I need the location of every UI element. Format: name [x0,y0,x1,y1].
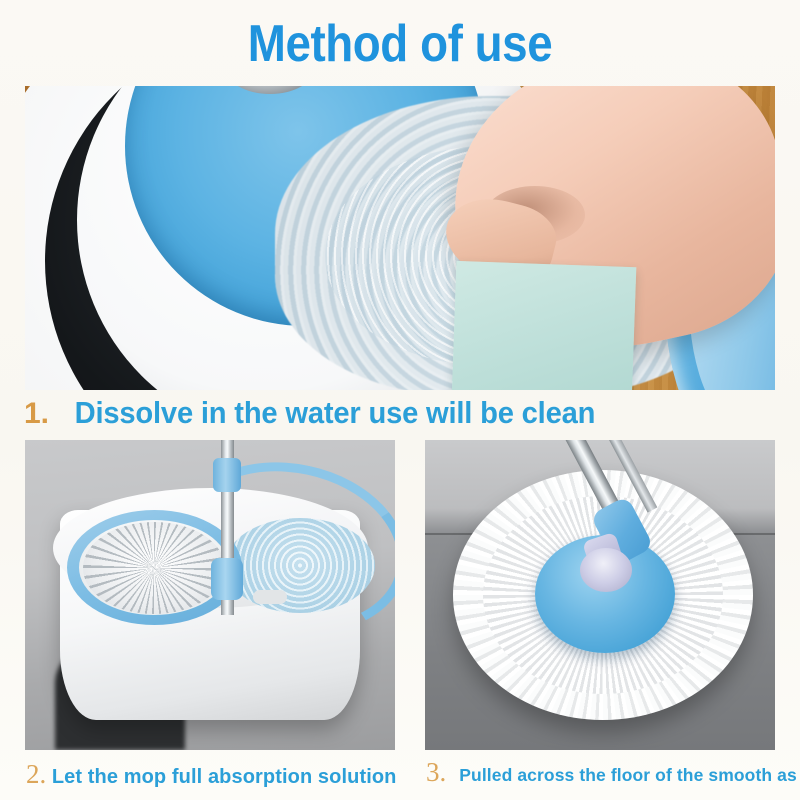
product-instruction-page: Method of use 1. Dissolve in the water u… [0,0,800,800]
step-2-caption: 2. Let the mop full absorption solution [26,762,397,789]
step-3-number: 3. [426,757,446,787]
dissolvable-cleaning-sheet [450,261,637,390]
step-2-photo [25,440,395,750]
mop-hub [580,548,632,592]
step-1-photo [25,86,775,390]
step-3-caption: 3. Pulled across the floor of the smooth… [426,760,800,787]
step-1-caption: 1. Dissolve in the water use will be cle… [24,396,612,431]
page-title: Method of use [48,16,752,72]
step-3-text: Pulled across the floor of the smooth as… [459,765,800,785]
step-3-photo [425,440,775,750]
step-2-number: 2. [26,759,46,789]
step-1-text: Dissolve in the water use will be clean [74,396,595,430]
pole-collar-bottom [211,558,243,600]
pole-collar-top [213,458,241,492]
step-2-text: Let the mop full absorption solution [52,766,397,788]
step-1-number: 1. [24,397,49,430]
